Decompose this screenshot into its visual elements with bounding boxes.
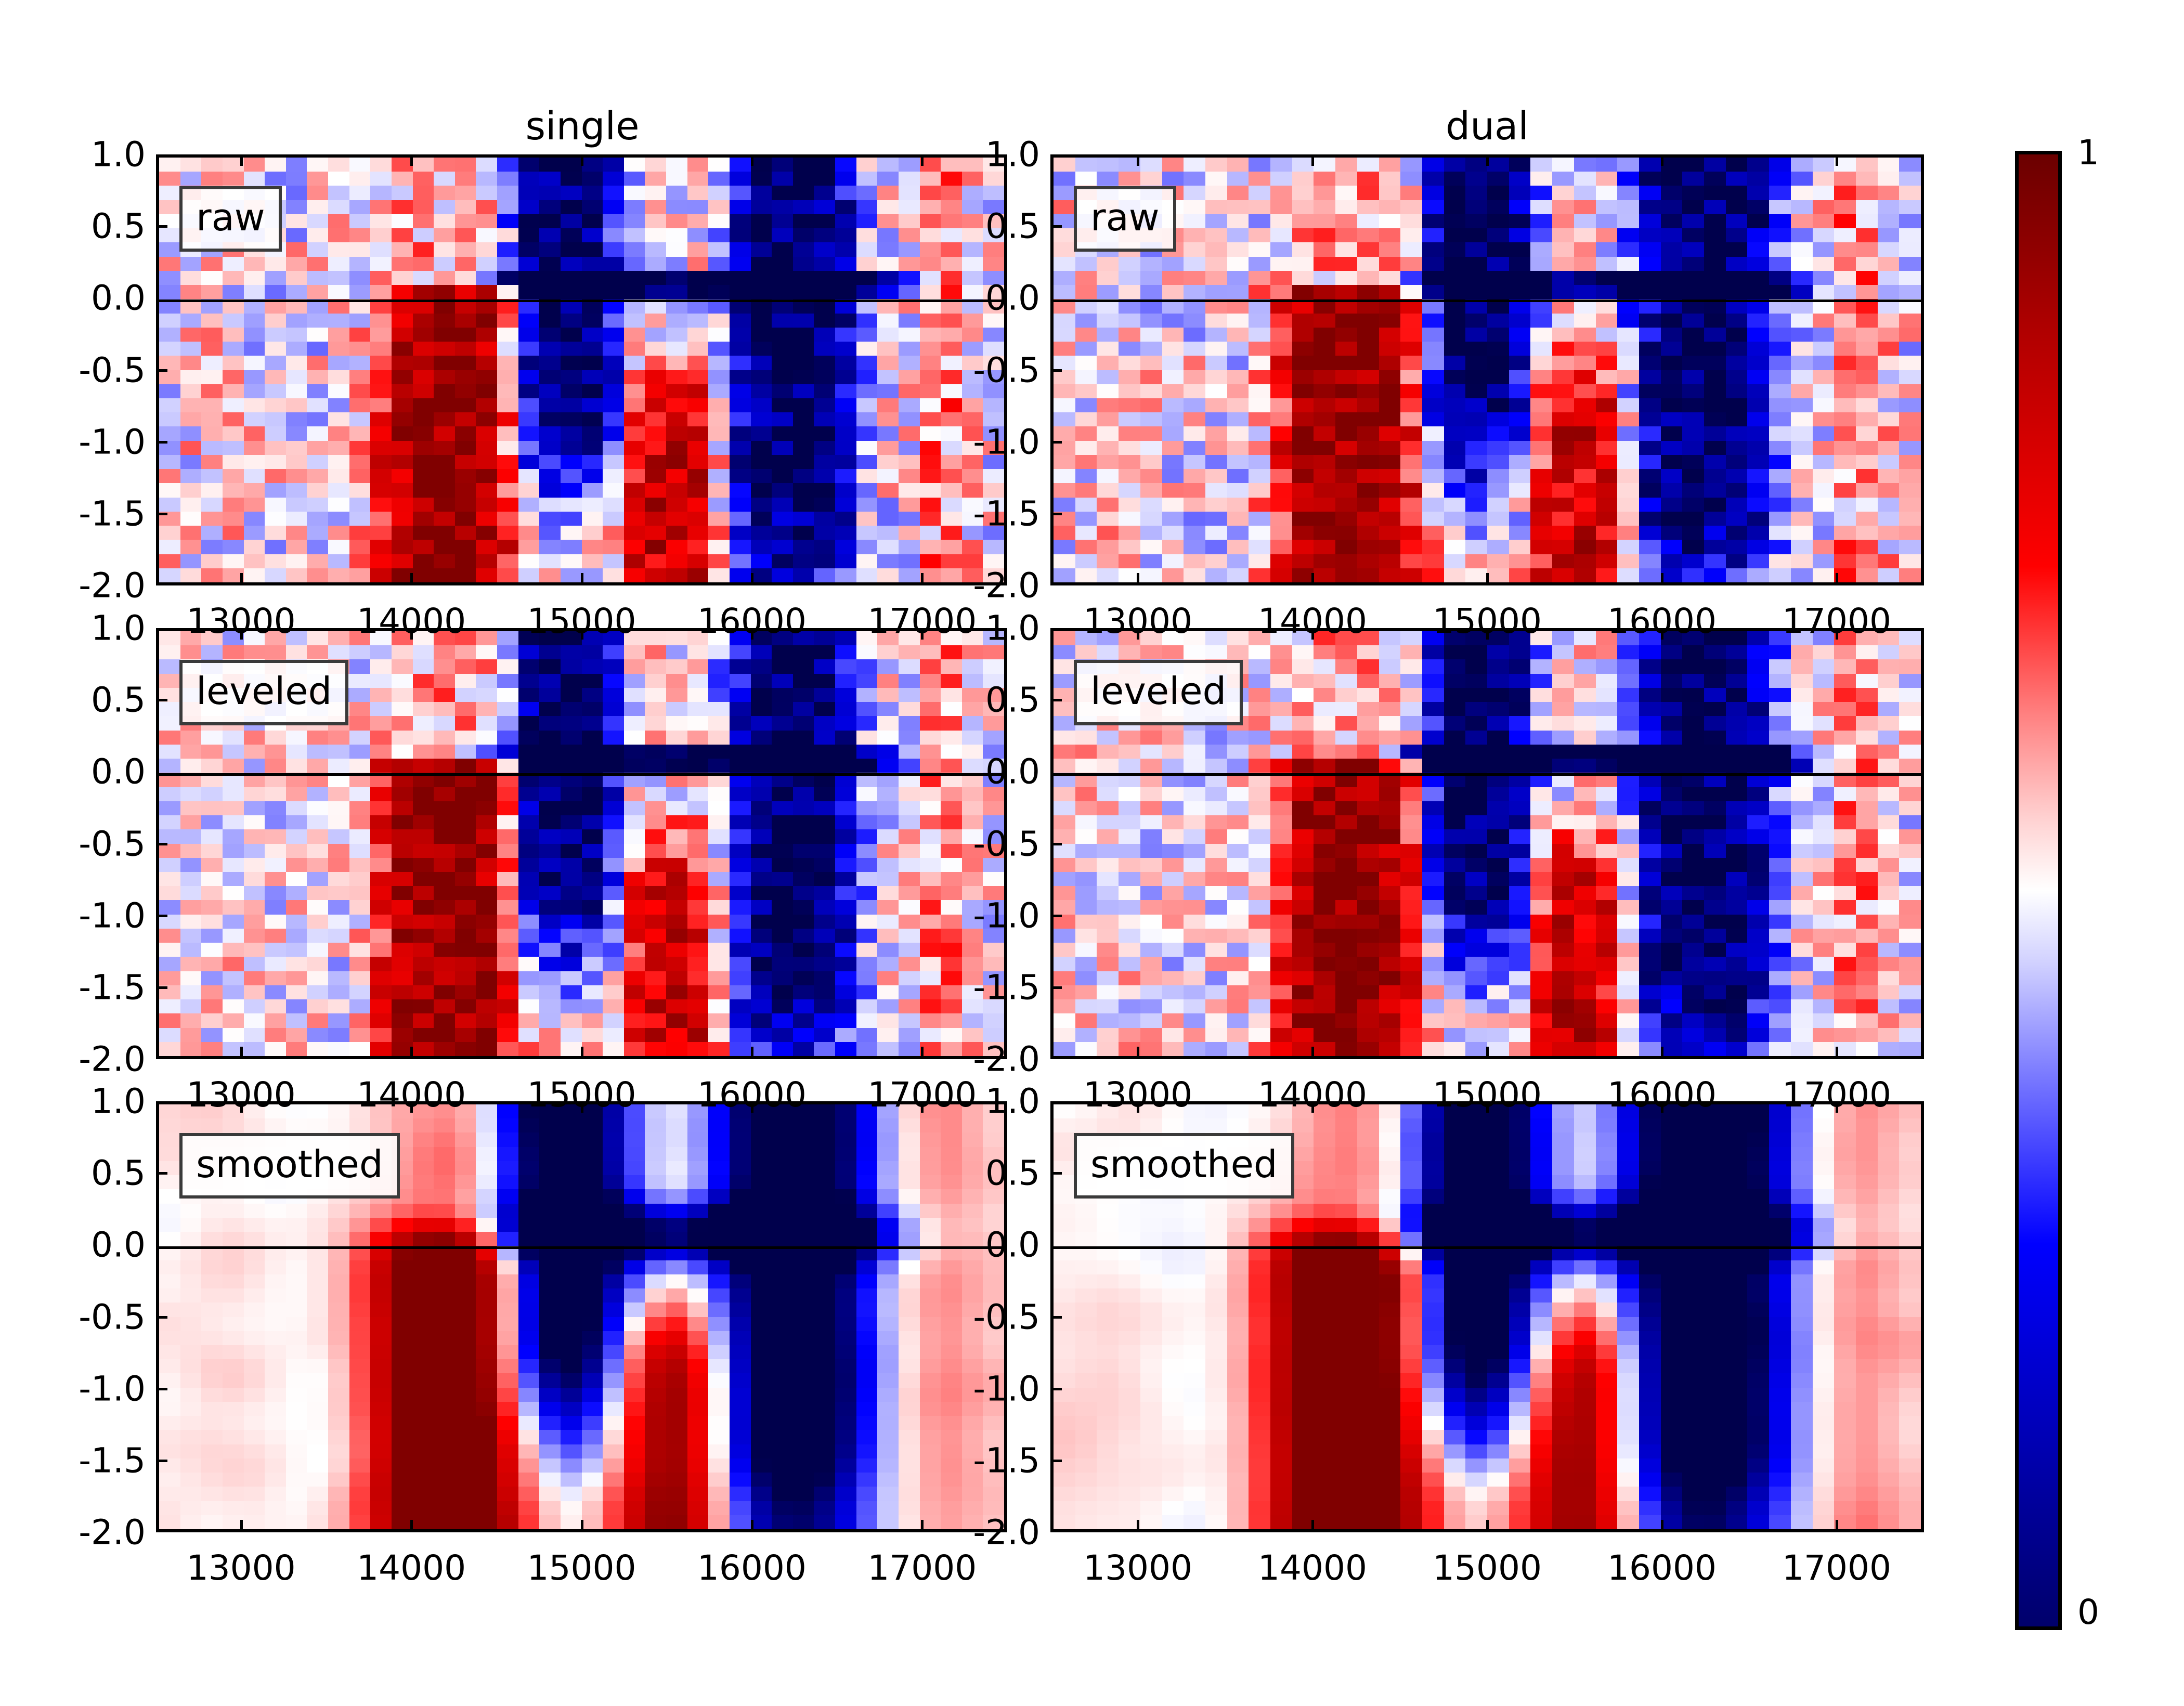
heatmap-cell: [666, 172, 687, 186]
heatmap-cell: [1314, 384, 1335, 398]
heatmap-cell: [1422, 943, 1444, 957]
heatmap-cell: [877, 957, 899, 971]
heatmap-cell: [1878, 731, 1900, 745]
heatmap-cell: [434, 441, 455, 455]
heatmap-cell: [476, 659, 497, 673]
heatmap-cell: [1227, 186, 1249, 200]
heatmap-cell: [1769, 412, 1791, 426]
heatmap-cell: [518, 815, 540, 829]
heatmap-cell: [244, 342, 265, 356]
heatmap-cell: [1400, 787, 1422, 801]
heatmap-cell: [1509, 512, 1531, 526]
heatmap-cell: [1769, 745, 1791, 759]
heatmap-cell: [1314, 342, 1335, 356]
heatmap-cell: [1379, 759, 1401, 773]
heatmap-cell: [1249, 1028, 1270, 1042]
heatmap-cell: [1791, 971, 1813, 985]
heatmap-cell: [455, 1132, 476, 1147]
heatmap-cell: [286, 214, 307, 228]
heatmap-cell: [1400, 829, 1422, 843]
heatmap-cell: [1249, 242, 1270, 256]
heatmap-cell: [1444, 186, 1466, 200]
heatmap-cell: [1639, 285, 1661, 299]
heatmap-cell: [1574, 787, 1596, 801]
heatmap-cell: [476, 1104, 497, 1118]
heatmap-cell: [1509, 1013, 1531, 1027]
heatmap-cell: [1574, 186, 1596, 200]
heatmap-cell: [455, 370, 476, 384]
heatmap-cell: [1357, 801, 1379, 815]
heatmap-cell: [1270, 659, 1292, 673]
heatmap-cell: [392, 787, 413, 801]
heatmap-cell: [286, 412, 307, 426]
heatmap-cell: [1661, 228, 1683, 242]
heatmap-cell: [1205, 759, 1227, 773]
heatmap-cell: [772, 829, 793, 843]
heatmap-cell: [1704, 829, 1726, 843]
heatmap-cell: [1617, 716, 1639, 730]
heatmap-cell: [856, 674, 878, 688]
heatmap-cell: [349, 745, 371, 759]
heatmap-cell: [772, 1013, 793, 1027]
heatmap-cell: [708, 787, 730, 801]
heatmap-cell: [476, 384, 497, 398]
heatmap-cell: [835, 469, 856, 483]
heatmap-cell: [1574, 356, 1596, 370]
heatmap-cell: [1639, 674, 1661, 688]
heatmap-cell: [603, 526, 624, 540]
heatmap-cell: [1834, 483, 1856, 497]
heatmap-cell: [1314, 214, 1335, 228]
heatmap-cell: [1769, 985, 1791, 999]
heatmap-cell: [201, 844, 223, 858]
heatmap-cell: [476, 801, 497, 815]
heatmap-cell: [1422, 441, 1444, 455]
heatmap-cell: [455, 512, 476, 526]
heatmap-cell: [1509, 716, 1531, 730]
heatmap-cell: [1878, 759, 1900, 773]
heatmap-cell: [265, 900, 286, 914]
heatmap-cell: [392, 285, 413, 299]
heatmap-cell: [1292, 674, 1314, 688]
heatmap-cell: [244, 512, 265, 526]
heatmap-cell: [561, 1118, 582, 1132]
heatmap-cell: [835, 844, 856, 858]
heatmap-cell: [1140, 271, 1162, 285]
heatmap-cell: [201, 1118, 223, 1132]
heatmap-cell: [223, 512, 244, 526]
heatmap-cell: [751, 1147, 772, 1161]
heatmap-cell: [180, 900, 202, 914]
heatmap-cell: [223, 801, 244, 815]
heatmap-cell: [1075, 328, 1097, 342]
heatmap-cell: [1054, 469, 1075, 483]
heatmap-cell: [1205, 158, 1227, 172]
heatmap-cell: [1379, 370, 1401, 384]
heatmap-cell: [1791, 688, 1813, 702]
heatmap-cell: [1617, 441, 1639, 455]
heatmap-cell: [920, 398, 941, 412]
heatmap-cell: [1617, 285, 1639, 299]
heatmap-cell: [772, 554, 793, 568]
heatmap-cell: [1769, 257, 1791, 271]
heatmap-cell: [1682, 228, 1704, 242]
heatmap-cell: [244, 645, 265, 659]
heatmap-cell: [1379, 844, 1401, 858]
heatmap-cell: [1314, 242, 1335, 256]
heatmap-cell: [497, 1028, 518, 1042]
heatmap-cell: [561, 441, 582, 455]
heatmap-cell: [1379, 242, 1401, 256]
heatmap-cell: [1704, 759, 1726, 773]
heatmap-cell: [1119, 285, 1140, 299]
heatmap-cell: [413, 242, 434, 256]
heatmap-cell: [1249, 483, 1270, 497]
heatmap-cell: [1314, 716, 1335, 730]
heatmap-cell: [518, 674, 540, 688]
heatmap-cell: [835, 943, 856, 957]
heatmap-cell: [1227, 759, 1249, 773]
heatmap-cell: [1054, 455, 1075, 469]
heatmap-cell: [814, 745, 835, 759]
heatmap-cell: [1596, 398, 1618, 412]
heatmap-cell: [1357, 985, 1379, 999]
heatmap-cell: [370, 285, 392, 299]
heatmap-cell: [1791, 886, 1813, 900]
heatmap-cell: [434, 384, 455, 398]
heatmap-cell: [1639, 512, 1661, 526]
heatmap-cell: [159, 971, 180, 985]
heatmap-cell: [476, 872, 497, 886]
heatmap-cell: [856, 900, 878, 914]
heatmap-cell: [1509, 242, 1531, 256]
heatmap-cell: [708, 426, 730, 440]
heatmap-cell: [1140, 1042, 1162, 1056]
heatmap-cell: [1400, 271, 1422, 285]
heatmap-cell: [708, 659, 730, 673]
heatmap-cell: [434, 1161, 455, 1175]
heatmap-cell: [1726, 568, 1748, 582]
heatmap-cell: [1834, 512, 1856, 526]
heatmap-cell: [455, 526, 476, 540]
heatmap-cell: [1530, 469, 1552, 483]
heatmap-cell: [1682, 674, 1704, 688]
heatmap-cell: [1357, 858, 1379, 872]
heatmap-cell: [413, 844, 434, 858]
heatmap-cell: [307, 384, 328, 398]
heatmap-cell: [877, 900, 899, 914]
heatmap-cell: [307, 957, 328, 971]
heatmap-cell: [539, 1118, 561, 1132]
heatmap-cell: [1682, 759, 1704, 773]
heatmap-cell: [1617, 214, 1639, 228]
heatmap-cell: [877, 441, 899, 455]
heatmap-cell: [624, 342, 645, 356]
heatmap-cell: [223, 829, 244, 843]
heatmap-cell: [772, 384, 793, 398]
heatmap-cell: [1661, 1042, 1683, 1056]
heatmap-cell: [1661, 688, 1683, 702]
heatmap-cell: [1682, 731, 1704, 745]
heatmap-cell: [1140, 342, 1162, 356]
heatmap-cell: [1682, 342, 1704, 356]
heatmap-cell: [1379, 257, 1401, 271]
heatmap-cell: [1617, 702, 1639, 716]
heatmap-cell: [1465, 172, 1487, 186]
heatmap-cell: [1422, 498, 1444, 512]
heatmap-cell: [1530, 659, 1552, 673]
heatmap-cell: [793, 745, 814, 759]
heatmap-cell: [1552, 370, 1574, 384]
heatmap-cell: [223, 285, 244, 299]
heatmap-cell: [920, 731, 941, 745]
heatmap-cell: [1682, 745, 1704, 759]
heatmap-cell: [1856, 674, 1878, 688]
heatmap-cell: [1530, 745, 1552, 759]
heatmap-cell: [1400, 512, 1422, 526]
heatmap-cell: [1422, 356, 1444, 370]
heatmap-cell: [1054, 498, 1075, 512]
heatmap-cell: [1444, 844, 1466, 858]
heatmap-cell: [1379, 426, 1401, 440]
heatmap-cell: [518, 844, 540, 858]
heatmap-cell: [328, 957, 349, 971]
heatmap-cell: [1856, 200, 1878, 214]
heatmap-cell: [1205, 829, 1227, 843]
heatmap-cell: [244, 829, 265, 843]
heatmap-cell: [497, 688, 518, 702]
heatmap-cell: [1791, 716, 1813, 730]
heatmap-cell: [1119, 886, 1140, 900]
heatmap-cell: [603, 412, 624, 426]
heatmap-cell: [1682, 356, 1704, 370]
heatmap-cell: [1400, 943, 1422, 957]
heatmap-cell: [730, 815, 751, 829]
heatmap-cell: [476, 498, 497, 512]
heatmap-cell: [413, 214, 434, 228]
heatmap-cell: [1813, 702, 1835, 716]
heatmap-cell: [1661, 844, 1683, 858]
heatmap-cell: [1422, 829, 1444, 843]
heatmap-cell: [1162, 158, 1184, 172]
heatmap-cell: [1530, 455, 1552, 469]
heatmap-cell: [1878, 801, 1900, 815]
heatmap-cell: [1639, 900, 1661, 914]
heatmap-cell: [265, 328, 286, 342]
heatmap-cell: [413, 455, 434, 469]
heatmap-cell: [370, 886, 392, 900]
heatmap-cell: [920, 659, 941, 673]
heatmap-cell: [1704, 844, 1726, 858]
heatmap-cell: [244, 1013, 265, 1027]
heatmap-cell: [899, 370, 920, 384]
heatmap-cell: [1639, 271, 1661, 285]
heatmap-cell: [1813, 342, 1835, 356]
heatmap-cell: [1834, 285, 1856, 299]
heatmap-cell: [1813, 356, 1835, 370]
heatmap-cell: [772, 1132, 793, 1147]
heatmap-cell: [814, 631, 835, 645]
heatmap-cell: [286, 200, 307, 214]
heatmap-cell: [1292, 314, 1314, 328]
heatmap-cell: [413, 285, 434, 299]
heatmap-cell: [1487, 568, 1509, 582]
heatmap-cell: [159, 186, 180, 200]
heatmap-cell: [244, 957, 265, 971]
heatmap-cell: [1379, 659, 1401, 673]
heatmap-cell: [814, 1104, 835, 1118]
heatmap-cell: [1574, 631, 1596, 645]
heatmap-cell: [814, 659, 835, 673]
heatmap-cell: [349, 328, 371, 342]
heatmap-cell: [751, 971, 772, 985]
heatmap-cell: [645, 900, 666, 914]
heatmap-cell: [624, 929, 645, 943]
heatmap-cell: [877, 483, 899, 497]
heatmap-cell: [1726, 858, 1748, 872]
heatmap-cell: [941, 731, 962, 745]
heatmap-cell: [1314, 469, 1335, 483]
heatmap-cell: [751, 745, 772, 759]
heatmap-cell: [856, 999, 878, 1013]
heatmap-cell: [1357, 900, 1379, 914]
heatmap-cell: [835, 526, 856, 540]
heatmap-cell: [1162, 540, 1184, 554]
heatmap-cell: [603, 858, 624, 872]
heatmap-cell: [899, 186, 920, 200]
heatmap-cell: [201, 314, 223, 328]
heatmap-cell: [1834, 815, 1856, 829]
heatmap-cell: [497, 568, 518, 582]
panel-raw-single: [156, 154, 1007, 585]
heatmap-cell: [1791, 498, 1813, 512]
heatmap-cell: [1379, 886, 1401, 900]
heatmap-cell: [772, 412, 793, 426]
heatmap-cell: [518, 370, 540, 384]
heatmap-cell: [392, 929, 413, 943]
heatmap-cell: [370, 526, 392, 540]
heatmap-cell: [645, 971, 666, 985]
heatmap-cell: [1379, 285, 1401, 299]
heatmap-cell: [1530, 257, 1552, 271]
heatmap-cell: [1249, 441, 1270, 455]
heatmap-cell: [1292, 384, 1314, 398]
heatmap-cell: [1574, 801, 1596, 815]
heatmap-cell: [1552, 412, 1574, 426]
heatmap-cell: [856, 645, 878, 659]
heatmap-cell: [476, 314, 497, 328]
heatmap-cell: [1856, 568, 1878, 582]
heatmap-cell: [201, 356, 223, 370]
heatmap-cell: [772, 328, 793, 342]
heatmap-cell: [1054, 716, 1075, 730]
heatmap-cell: [856, 702, 878, 716]
heatmap-cell: [328, 745, 349, 759]
heatmap-cell: [877, 1042, 899, 1056]
heatmap-cell: [1487, 356, 1509, 370]
heatmap-cell: [1552, 943, 1574, 957]
heatmap-cell: [1639, 659, 1661, 673]
heatmap-cell: [497, 469, 518, 483]
heatmap-cell: [1530, 971, 1552, 985]
heatmap-cell: [1509, 214, 1531, 228]
heatmap-cell: [244, 441, 265, 455]
heatmap-cell: [1292, 342, 1314, 356]
heatmap-cell: [1422, 398, 1444, 412]
heatmap-cell: [624, 1042, 645, 1056]
heatmap-cell: [1270, 526, 1292, 540]
heatmap-cell: [1140, 441, 1162, 455]
heatmap-cell: [1878, 257, 1900, 271]
heatmap-cell: [666, 469, 687, 483]
heatmap-cell: [349, 398, 371, 412]
heatmap-cell: [1509, 228, 1531, 242]
heatmap-cell: [265, 554, 286, 568]
heatmap-cell: [476, 900, 497, 914]
heatmap-cell: [687, 674, 709, 688]
heatmap-cell: [180, 829, 202, 843]
heatmap-cell: [286, 745, 307, 759]
heatmap-cell: [1834, 426, 1856, 440]
heatmap-cell: [624, 186, 645, 200]
heatmap-cell: [1834, 271, 1856, 285]
heatmap-cell: [1856, 745, 1878, 759]
heatmap-cell: [1552, 554, 1574, 568]
heatmap-cell: [1617, 328, 1639, 342]
heatmap-cell: [1704, 214, 1726, 228]
heatmap-cell: [1791, 1042, 1813, 1056]
heatmap-cell: [1357, 242, 1379, 256]
heatmap-cell: [244, 158, 265, 172]
heatmap-cell: [1747, 398, 1769, 412]
heatmap-cell: [1726, 929, 1748, 943]
heatmap-cell: [1769, 384, 1791, 398]
heatmap-cell: [1292, 872, 1314, 886]
heatmap-cell: [1400, 674, 1422, 688]
heatmap-cell: [1856, 759, 1878, 773]
heatmap-cell: [1270, 172, 1292, 186]
heatmap-cell: [180, 886, 202, 900]
heatmap-cell: [561, 971, 582, 985]
heatmap-cell: [328, 1104, 349, 1118]
heatmap-cell: [1379, 872, 1401, 886]
heatmap-cell: [1379, 631, 1401, 645]
heatmap-cell: [899, 455, 920, 469]
heatmap-cell: [1205, 469, 1227, 483]
heatmap-cell: [349, 257, 371, 271]
heatmap-cell: [413, 172, 434, 186]
heatmap-cell: [370, 540, 392, 554]
heatmap-cell: [1530, 540, 1552, 554]
heatmap-cell: [1639, 844, 1661, 858]
heatmap-cell: [1509, 829, 1531, 843]
heatmap-cell: [645, 759, 666, 773]
heatmap-cell: [687, 645, 709, 659]
heatmap-cell: [835, 356, 856, 370]
heatmap-cell: [1119, 999, 1140, 1013]
heatmap-cell: [1596, 985, 1618, 999]
heatmap-cell: [1574, 328, 1596, 342]
heatmap-cell: [1314, 702, 1335, 716]
heatmap-cell: [666, 314, 687, 328]
heatmap-cell: [1335, 999, 1357, 1013]
heatmap-cell: [624, 426, 645, 440]
heatmap-cell: [624, 1118, 645, 1132]
heatmap-cell: [1292, 328, 1314, 342]
heatmap-cell: [1726, 370, 1748, 384]
heatmap-cell: [476, 370, 497, 384]
heatmap-cell: [328, 200, 349, 214]
